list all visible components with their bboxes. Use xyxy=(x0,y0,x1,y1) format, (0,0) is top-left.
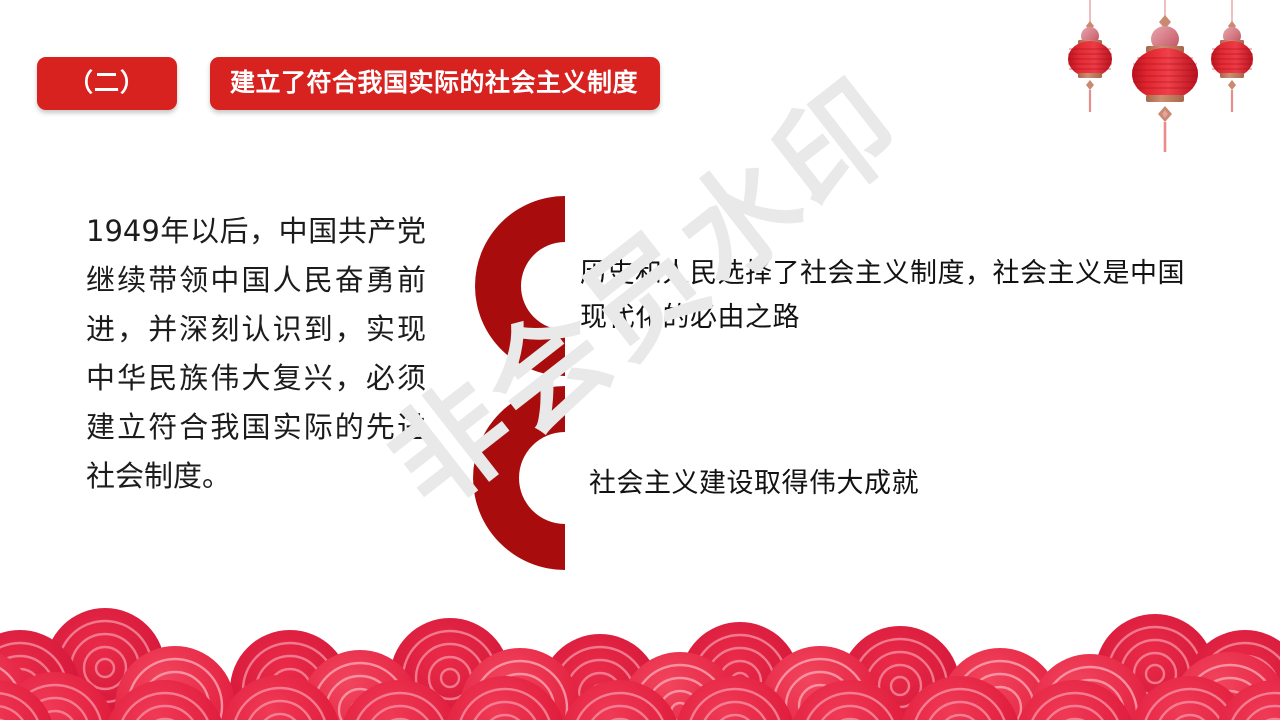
slide-header: （二） 建立了符合我国实际的社会主义制度 xyxy=(0,57,660,110)
point-text-2: 社会主义建设取得伟大成就 xyxy=(589,462,1189,506)
point-text-1: 历史和人民选择了社会主义制度，社会主义是中国现代化的必由之路 xyxy=(580,252,1200,340)
left-paragraph: 1949年以后，中国共产党继续带领中国人民奋勇前进，并深刻认识到，实现中华民族伟… xyxy=(86,207,426,501)
lantern-left xyxy=(1068,0,1112,112)
bottom-wave-decoration xyxy=(0,590,1280,720)
section-tag-badge: （二） xyxy=(37,57,177,110)
half-ring-bracket-icon xyxy=(455,185,585,580)
bracket-shapes xyxy=(455,185,585,580)
page-title: 建立了符合我国实际的社会主义制度 xyxy=(210,57,660,110)
slide-canvas: 非会员水印 xyxy=(0,0,1280,720)
lantern-decoration xyxy=(1050,0,1280,180)
chinese-lantern-icon xyxy=(1050,0,1280,180)
lantern-right xyxy=(1211,0,1253,112)
chinese-cloud-wave-icon xyxy=(0,590,1280,720)
lantern-center xyxy=(1132,0,1198,152)
